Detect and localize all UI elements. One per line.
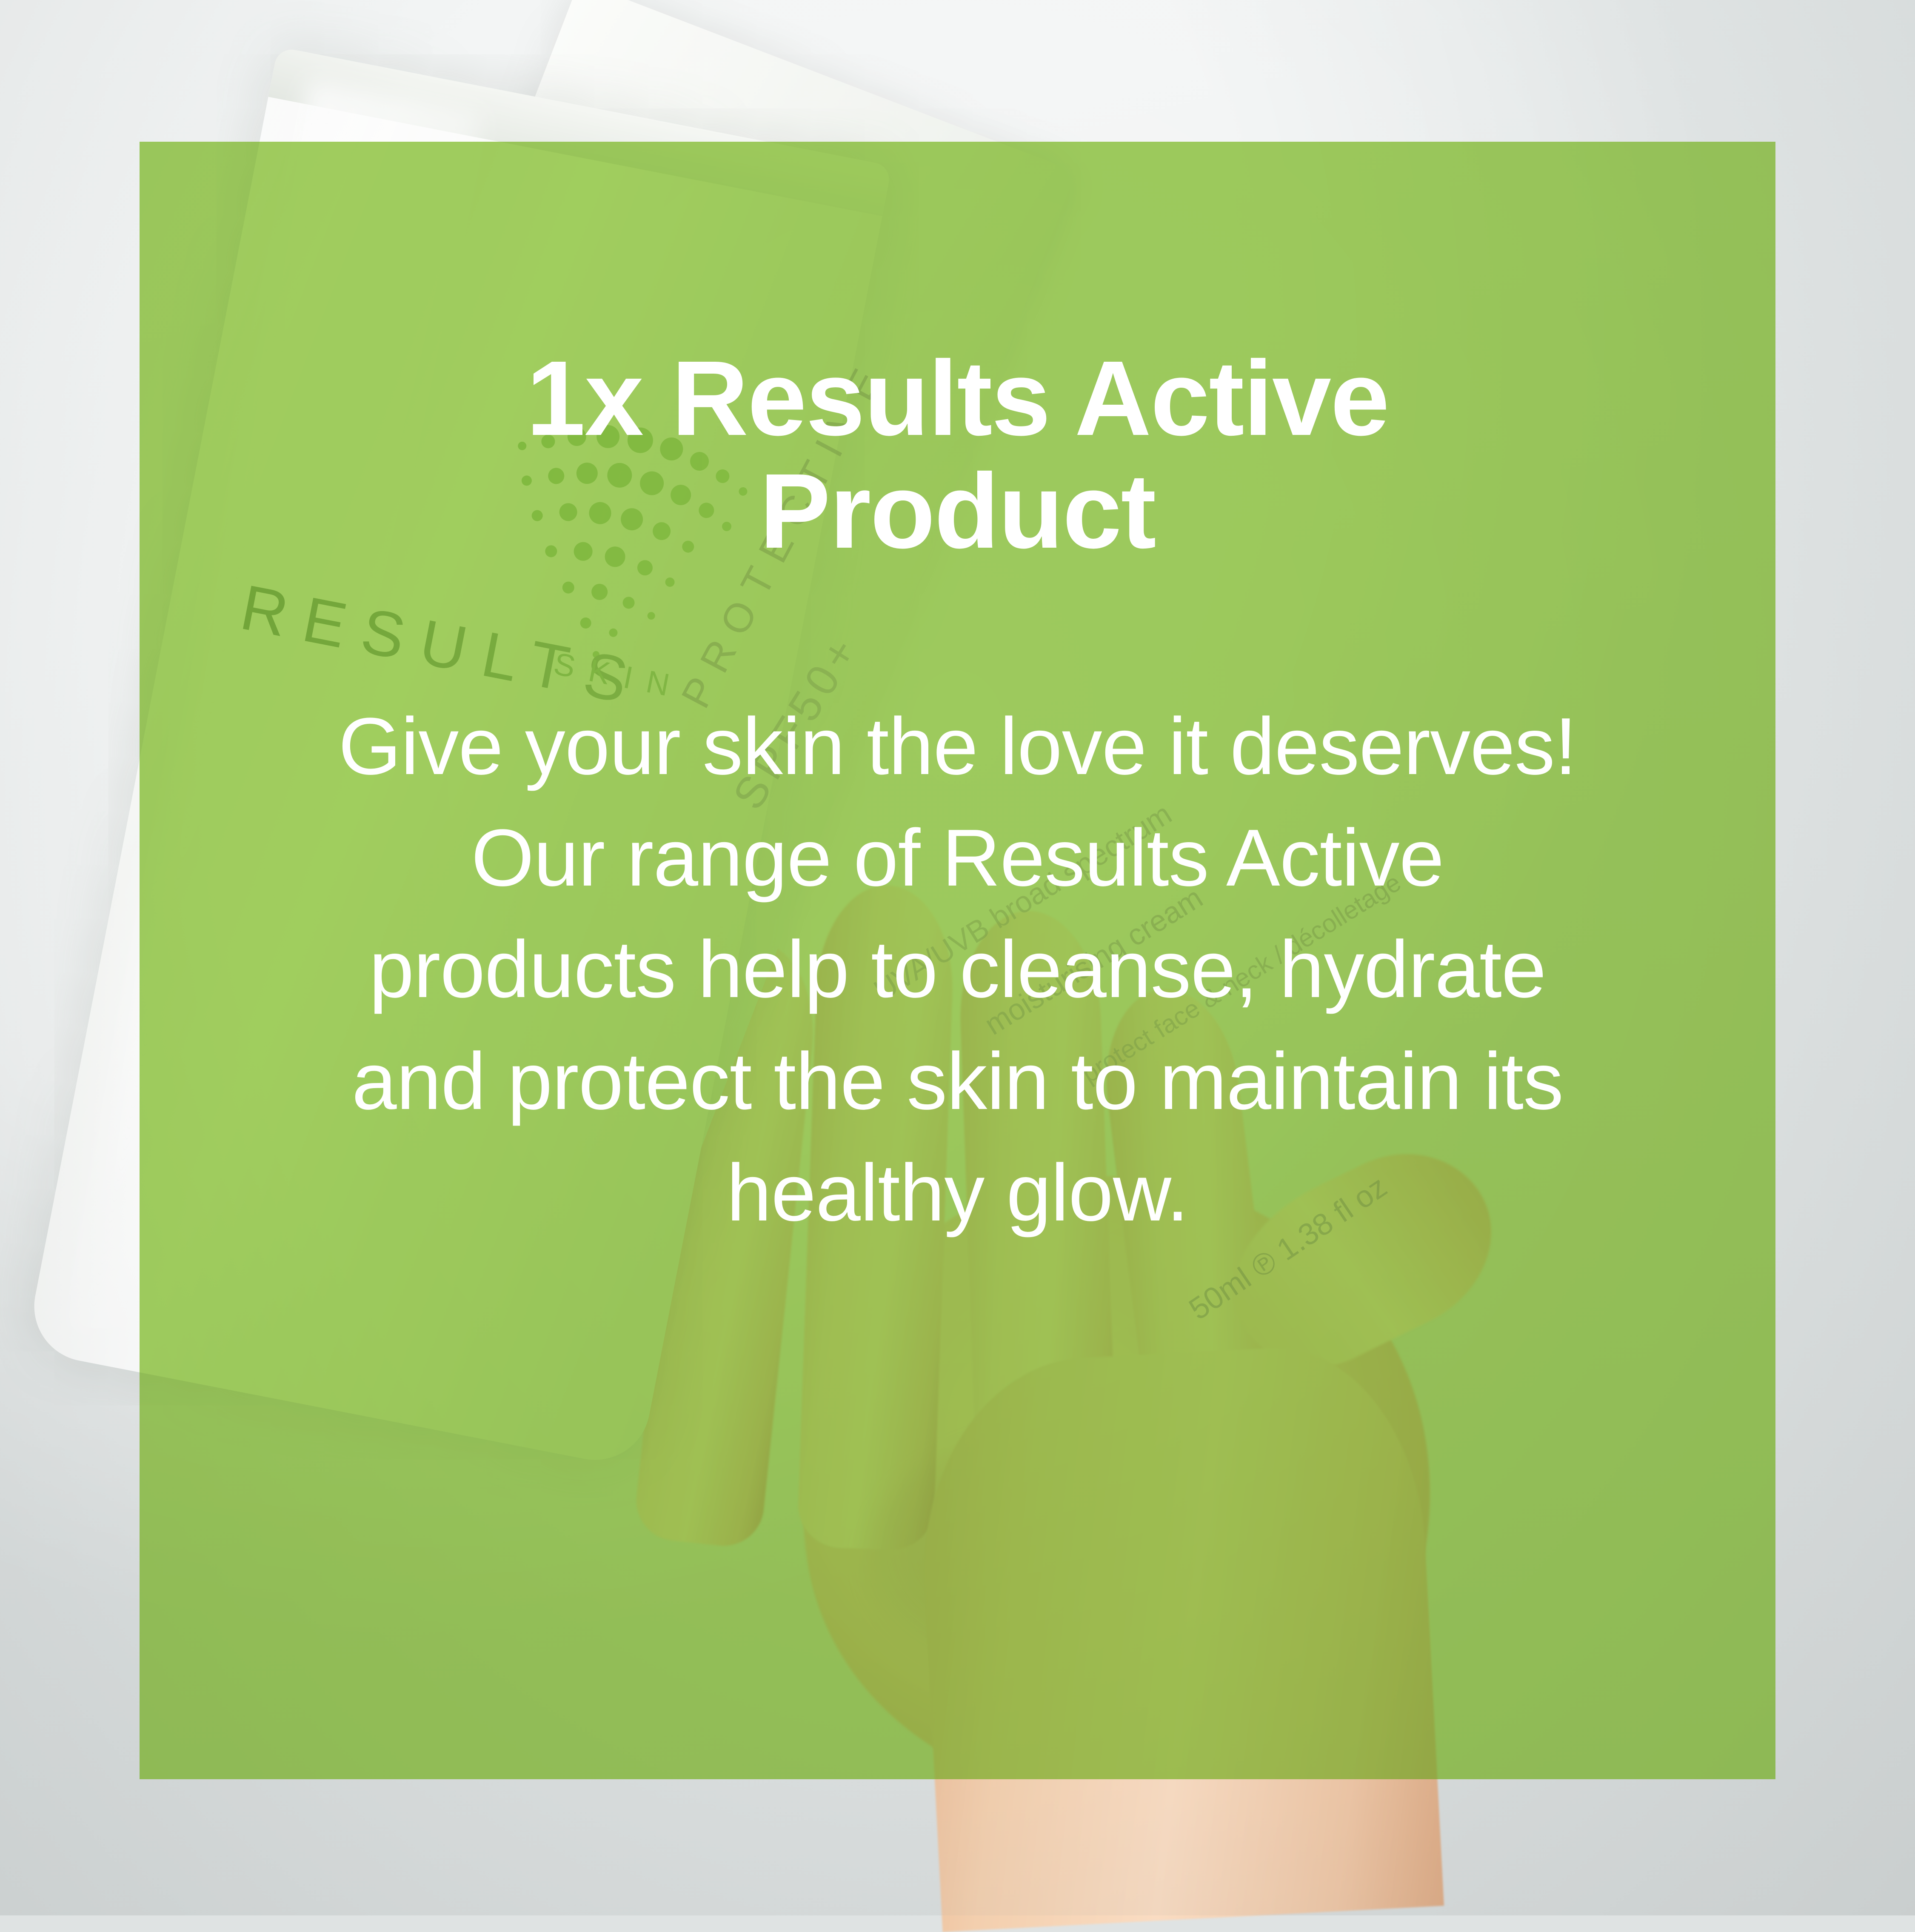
headline: 1x Results Active Product	[383, 142, 1532, 567]
promo-copy-block: 1x Results Active Product Give your skin…	[140, 142, 1775, 1779]
body-copy: Give your skin the love it deserves! Our…	[315, 567, 1600, 1249]
